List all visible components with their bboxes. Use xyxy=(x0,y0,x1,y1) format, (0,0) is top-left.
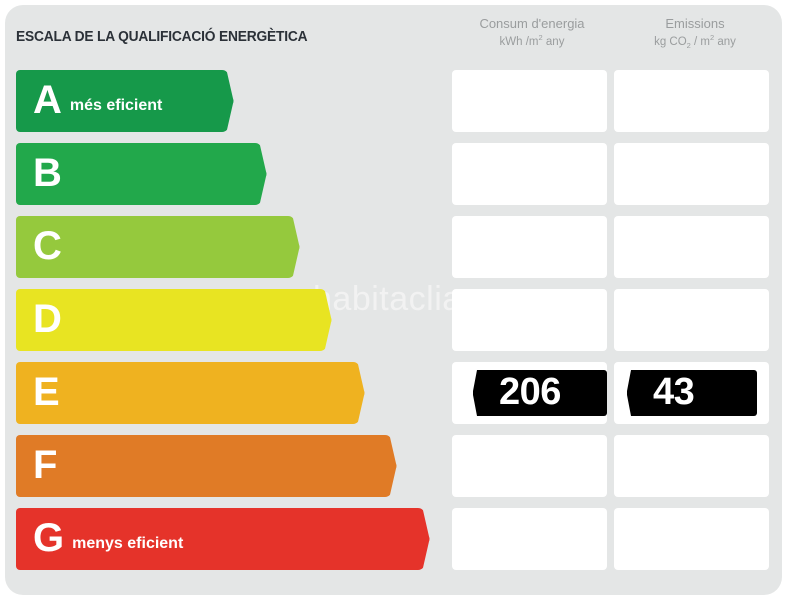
emissions-cell-d xyxy=(614,289,769,351)
column-header-emissions-unit: kg CO2 / m2 any xyxy=(620,33,770,51)
rating-row-d: D xyxy=(0,289,787,351)
rating-row-g: Gmenys eficient xyxy=(0,508,787,570)
grade-letter: G xyxy=(33,518,63,558)
rating-row-b: B xyxy=(0,143,787,205)
arrow-tip-icon xyxy=(310,289,332,351)
grade-letter: B xyxy=(33,153,61,193)
grade-bar-f: F xyxy=(16,435,375,497)
consum-value-badge: 206 xyxy=(473,370,607,416)
arrow-tip-icon xyxy=(245,143,267,205)
grade-bar-c: C xyxy=(16,216,278,278)
grade-sublabel: menys eficient xyxy=(72,535,183,553)
emissions-value-badge: 43 xyxy=(627,370,757,416)
grade-bar-a: Amés eficient xyxy=(16,70,212,132)
column-header-consum: Consum d'energia kWh /m2 any xyxy=(452,15,612,50)
grade-letter: F xyxy=(33,445,56,485)
column-header-emissions: Emissions kg CO2 / m2 any xyxy=(620,15,770,51)
emissions-cell-b xyxy=(614,143,769,205)
badge-body: 43 xyxy=(649,370,757,416)
grade-bar-g: Gmenys eficient xyxy=(16,508,408,570)
grade-letter: D xyxy=(33,299,61,339)
badge-value: 206 xyxy=(499,373,561,411)
badge-arrow-icon xyxy=(473,370,495,416)
column-header-emissions-label: Emissions xyxy=(620,15,770,33)
rating-row-a: Amés eficient xyxy=(0,70,787,132)
column-header-consum-unit: kWh /m2 any xyxy=(452,33,612,50)
badge-body: 206 xyxy=(495,370,607,416)
emissions-cell-g xyxy=(614,508,769,570)
rating-row-f: F xyxy=(0,435,787,497)
arrow-tip-icon xyxy=(343,362,365,424)
emissions-cell-a xyxy=(614,70,769,132)
arrow-tip-icon xyxy=(212,70,234,132)
page-title: ESCALA DE LA QUALIFICACIÓ ENERGÈTICA xyxy=(16,29,307,45)
column-header-consum-label: Consum d'energia xyxy=(452,15,612,33)
grade-letter: C xyxy=(33,226,61,266)
grade-bar-d: D xyxy=(16,289,310,351)
emissions-cell-f xyxy=(614,435,769,497)
grade-letter: E xyxy=(33,372,59,412)
rating-row-c: C xyxy=(0,216,787,278)
consum-cell-b xyxy=(452,143,607,205)
grade-bar-b: B xyxy=(16,143,245,205)
badge-arrow-icon xyxy=(627,370,649,416)
consum-cell-c xyxy=(452,216,607,278)
arrow-tip-icon xyxy=(375,435,397,497)
consum-cell-d xyxy=(452,289,607,351)
rating-row-e: E20643 xyxy=(0,362,787,424)
consum-cell-a xyxy=(452,70,607,132)
energy-rating-chart: ESCALA DE LA QUALIFICACIÓ ENERGÈTICA Con… xyxy=(0,0,787,600)
grade-letter: A xyxy=(33,80,61,120)
arrow-tip-icon xyxy=(408,508,430,570)
grade-bar-e: E xyxy=(16,362,343,424)
grade-sublabel: més eficient xyxy=(70,97,162,115)
emissions-cell-c xyxy=(614,216,769,278)
badge-value: 43 xyxy=(653,373,694,411)
arrow-tip-icon xyxy=(278,216,300,278)
consum-cell-f xyxy=(452,435,607,497)
consum-cell-g xyxy=(452,508,607,570)
